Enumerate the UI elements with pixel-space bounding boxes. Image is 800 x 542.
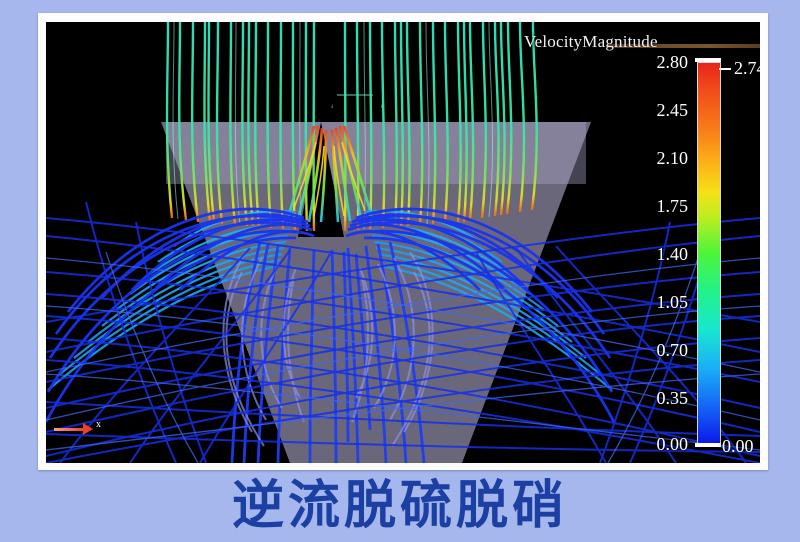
caption-text: 逆流脱硫脱硝	[232, 480, 568, 532]
x-axis-label: x	[96, 419, 101, 430]
x-axis-arrow-shaft	[54, 428, 84, 431]
cb-tick-6: 0.70	[606, 340, 688, 361]
cb-tick-5: 1.05	[606, 292, 688, 313]
orientation-axes-widget[interactable]: x	[54, 418, 114, 442]
color-legend-top-cap	[695, 58, 721, 62]
render-view[interactable]: VelocityMagnitude 2.80 2.45 2.10 1.75 1.…	[46, 22, 760, 463]
color-legend-gradient-bar[interactable]	[697, 62, 721, 445]
cb-tick-1: 2.45	[606, 100, 688, 121]
color-legend-bottom-cap	[695, 443, 721, 447]
color-legend-max-tick-mark	[719, 68, 731, 70]
screenshot-root: VelocityMagnitude 2.80 2.45 2.10 1.75 1.…	[0, 0, 800, 542]
color-legend-tick-labels: 2.80 2.45 2.10 1.75 1.40 1.05 0.70 0.35 …	[606, 22, 688, 463]
cb-tick-8: 0.00	[606, 434, 688, 455]
cb-tick-4: 1.40	[606, 244, 688, 265]
cb-tick-3: 1.75	[606, 196, 688, 217]
cb-tick-7: 0.35	[606, 388, 688, 409]
cb-tick-0: 2.80	[606, 52, 688, 73]
cb-tick-2: 2.10	[606, 148, 688, 169]
color-legend-max-value: 2.74	[734, 58, 760, 79]
nozzle-jet-core-streamlines	[288, 126, 372, 222]
nozzle-jet-hot-highlights	[292, 142, 366, 216]
caption-bar: 逆流脱硫脱硝	[0, 470, 800, 542]
x-axis-arrow-head-icon	[83, 423, 93, 435]
color-legend-min-value: 0.00	[722, 436, 754, 457]
inlet-downflow-streamlines	[167, 22, 537, 231]
